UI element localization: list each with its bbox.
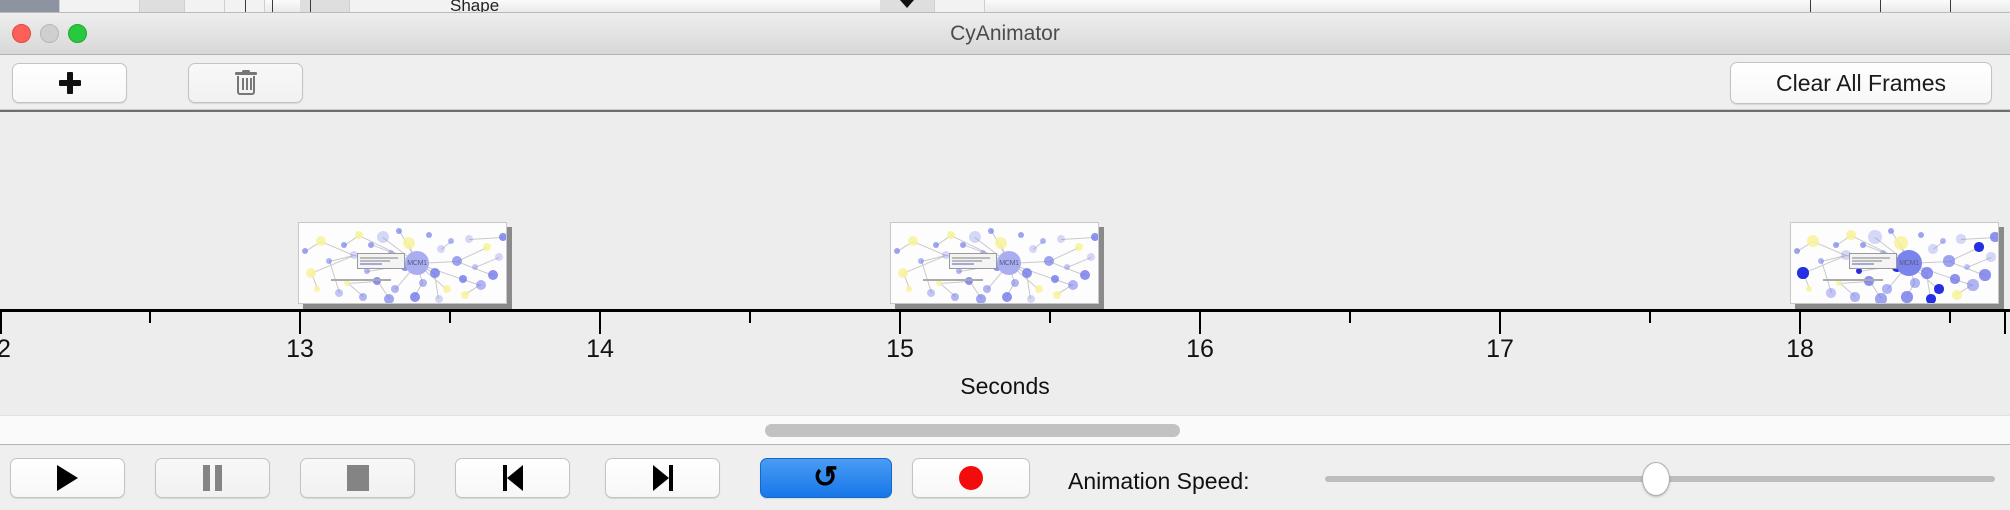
graph-tooltip xyxy=(1849,253,1897,269)
graph-node xyxy=(430,268,440,278)
graph-node xyxy=(341,242,347,248)
loop-icon: ↻ xyxy=(813,463,838,493)
graph-node xyxy=(410,292,420,302)
ruler-tick-major xyxy=(599,312,601,334)
graph-node xyxy=(1035,285,1043,293)
graph-node xyxy=(1950,274,1959,283)
cyanimator-window: Shape CyAnimator Clear All Frames MCM1 M… xyxy=(0,0,2010,510)
thumbnail-sheet[interactable]: MCM1 xyxy=(298,222,507,304)
graph-node xyxy=(1860,242,1867,249)
playback-controls-bar: ↻ Animation Speed: xyxy=(0,446,2010,510)
graph-node xyxy=(396,228,402,234)
graph-node xyxy=(898,268,908,278)
graph-node xyxy=(435,295,443,303)
graph-node xyxy=(1901,291,1913,303)
graph-node xyxy=(976,294,986,304)
graph-node xyxy=(326,258,332,264)
graph-node xyxy=(960,242,966,248)
graph-node xyxy=(461,291,469,299)
graph-node xyxy=(927,289,935,297)
network-graph: MCM1 xyxy=(891,223,1098,303)
graph-node xyxy=(437,245,445,253)
ruler-tick-label: 13 xyxy=(286,335,314,364)
graph-hub-node: MCM1 xyxy=(405,251,429,275)
ruler-tick-minor xyxy=(1349,312,1351,323)
graph-node xyxy=(359,293,367,301)
horizontal-scrollbar-track[interactable] xyxy=(0,415,2010,445)
graph-node xyxy=(906,286,912,292)
graph-node xyxy=(377,231,389,243)
ruler-tick-major xyxy=(299,312,301,334)
graph-node xyxy=(1894,236,1908,250)
ruler-tick-label: 16 xyxy=(1186,335,1214,364)
graph-node xyxy=(314,286,320,292)
graph-node xyxy=(1967,279,1979,291)
graph-node xyxy=(1053,291,1061,299)
graph-node xyxy=(988,228,994,234)
ruler-tick-label: 2 xyxy=(0,335,11,364)
animation-speed-label: Animation Speed: xyxy=(1068,468,1250,495)
graph-node xyxy=(1918,232,1925,239)
graph-node xyxy=(465,235,473,243)
graph-node xyxy=(1934,284,1943,293)
graph-node xyxy=(1022,268,1032,278)
graph-node xyxy=(1011,279,1019,287)
graph-node xyxy=(1979,269,1991,281)
graph-node xyxy=(1928,244,1937,253)
graph-node xyxy=(908,236,918,246)
graph-node xyxy=(335,289,343,297)
graph-node xyxy=(1833,242,1840,249)
graph-node xyxy=(1826,288,1835,297)
ruler-tick-minor xyxy=(1949,312,1951,323)
graph-node xyxy=(1068,280,1078,290)
record-button[interactable] xyxy=(912,458,1030,498)
graph-node xyxy=(448,238,454,244)
animation-speed-slider-thumb[interactable] xyxy=(1642,462,1670,496)
graph-node xyxy=(488,270,498,280)
skip-back-icon xyxy=(503,465,523,491)
graph-node xyxy=(1868,230,1882,244)
graph-node xyxy=(1075,243,1083,251)
graph-node xyxy=(947,231,955,239)
graph-node xyxy=(995,237,1007,249)
graph-node xyxy=(426,232,432,238)
record-icon xyxy=(959,466,983,490)
graph-node xyxy=(1807,235,1819,247)
graph-node xyxy=(499,233,507,241)
graph-node xyxy=(1926,294,1935,303)
ruler-baseline xyxy=(0,309,2010,312)
clear-all-frames-button[interactable]: Clear All Frames xyxy=(1730,62,1992,104)
ruler-tick-minor xyxy=(449,312,451,323)
ruler-tick-major xyxy=(0,312,2,334)
graph-node xyxy=(1910,278,1919,287)
graph-node xyxy=(384,294,394,304)
background-window-label: Shape xyxy=(450,0,499,13)
graph-node xyxy=(368,242,374,248)
graph-hub-node: MCM1 xyxy=(997,251,1021,275)
graph-node xyxy=(1027,295,1035,303)
graph-node xyxy=(1044,256,1054,266)
graph-node xyxy=(1091,233,1099,241)
thumbnail-sheet[interactable]: MCM1 xyxy=(1790,222,1999,304)
stop-icon xyxy=(347,465,369,491)
ruler-tick-major xyxy=(1199,312,1201,334)
toolbar: Clear All Frames xyxy=(0,55,2010,110)
background-window-strip: Shape xyxy=(0,0,2010,13)
graph-node xyxy=(1051,275,1059,283)
graph-node xyxy=(391,285,399,293)
graph-node xyxy=(1040,238,1046,244)
graph-tooltip xyxy=(357,253,405,269)
graph-caption xyxy=(1823,279,1883,281)
ruler-tick-label: 15 xyxy=(886,335,914,364)
graph-node xyxy=(1940,238,1947,245)
graph-node xyxy=(1990,232,1999,241)
pause-icon xyxy=(203,465,222,491)
ruler-tick-label: 14 xyxy=(586,335,614,364)
graph-node xyxy=(1986,252,1995,261)
ruler-tick-minor xyxy=(1049,312,1051,323)
graph-edge xyxy=(913,241,946,256)
graph-node xyxy=(443,285,451,293)
pause-button[interactable] xyxy=(155,458,270,498)
axis-title: Seconds xyxy=(0,373,2010,400)
frames-timeline-panel[interactable]: MCM1 MCM1 MCM1 xyxy=(0,110,2010,309)
graph-node xyxy=(403,237,415,249)
graph-node xyxy=(1952,290,1961,299)
timeline-ruler: 2131415161718 Seconds xyxy=(0,309,2010,415)
graph-node xyxy=(1974,242,1983,251)
graph-node xyxy=(1080,270,1090,280)
timeline-frame-thumbnail[interactable]: MCM1 xyxy=(298,222,512,309)
graph-node xyxy=(1002,292,1012,302)
graph-node xyxy=(1794,248,1801,255)
graph-node xyxy=(1882,284,1891,293)
play-icon xyxy=(57,465,78,491)
graph-caption xyxy=(923,279,983,281)
loop-button[interactable]: ↻ xyxy=(760,458,892,498)
graph-node xyxy=(918,258,924,264)
delete-frame-button[interactable] xyxy=(188,63,303,103)
play-button[interactable] xyxy=(10,458,125,498)
add-frame-button[interactable] xyxy=(12,63,127,103)
graph-node xyxy=(495,253,503,261)
previous-frame-button[interactable] xyxy=(455,458,570,498)
graph-node xyxy=(472,264,478,270)
network-graph: MCM1 xyxy=(299,223,506,303)
ruler-tick-major xyxy=(1499,312,1501,334)
graph-node xyxy=(1018,232,1024,238)
window-title: CyAnimator xyxy=(0,22,2010,46)
graph-node xyxy=(1956,234,1965,243)
next-frame-button[interactable] xyxy=(605,458,720,498)
graph-node xyxy=(419,279,427,287)
graph-node xyxy=(1850,292,1859,301)
animation-speed-slider[interactable] xyxy=(1325,476,1995,482)
timeline-frame-thumbnail[interactable]: MCM1 xyxy=(1790,222,2004,309)
ruler-tick-major xyxy=(1799,312,1801,334)
graph-node xyxy=(1064,264,1070,270)
ruler-tick-minor xyxy=(149,312,151,323)
ruler-tick-major xyxy=(899,312,901,334)
horizontal-scrollbar-thumb[interactable] xyxy=(765,424,1180,437)
graph-node xyxy=(302,248,308,254)
plus-icon xyxy=(59,72,81,94)
stop-button[interactable] xyxy=(300,458,415,498)
graph-edge xyxy=(469,237,503,240)
graph-node xyxy=(476,280,486,290)
graph-node xyxy=(459,275,467,283)
graph-node xyxy=(969,231,981,243)
graph-node xyxy=(951,293,959,301)
graph-node xyxy=(306,268,316,278)
graph-node xyxy=(1029,245,1037,253)
graph-node xyxy=(1875,293,1887,304)
skip-forward-icon xyxy=(653,465,673,491)
graph-node xyxy=(1921,267,1933,279)
trash-icon xyxy=(235,70,257,96)
graph-node xyxy=(452,256,462,266)
graph-node xyxy=(1087,253,1095,261)
graph-node xyxy=(316,236,326,246)
graph-node xyxy=(1806,286,1813,293)
graph-caption xyxy=(331,279,391,281)
graph-node xyxy=(1797,267,1809,279)
graph-node xyxy=(483,243,491,251)
ruler-tick-label: 17 xyxy=(1486,335,1514,364)
graph-tooltip xyxy=(949,253,997,269)
graph-node xyxy=(355,231,363,239)
title-bar: CyAnimator xyxy=(0,13,2010,55)
graph-edge xyxy=(1061,237,1095,240)
graph-node xyxy=(894,248,900,254)
thumbnail-sheet[interactable]: MCM1 xyxy=(890,222,1099,304)
graph-node xyxy=(1846,230,1855,239)
graph-node xyxy=(933,242,939,248)
graph-hub-node: MCM1 xyxy=(1896,250,1922,276)
graph-node xyxy=(1943,255,1955,267)
ruler-tick-minor xyxy=(749,312,751,323)
network-graph: MCM1 xyxy=(1791,223,1998,303)
timeline-frame-thumbnail[interactable]: MCM1 xyxy=(890,222,1104,309)
graph-node xyxy=(983,285,991,293)
graph-node xyxy=(1057,235,1065,243)
ruler-tick-minor xyxy=(1649,312,1651,323)
graph-edge xyxy=(321,241,354,256)
ruler-tick-label: 18 xyxy=(1786,335,1814,364)
ruler-tick-major xyxy=(2004,312,2006,334)
